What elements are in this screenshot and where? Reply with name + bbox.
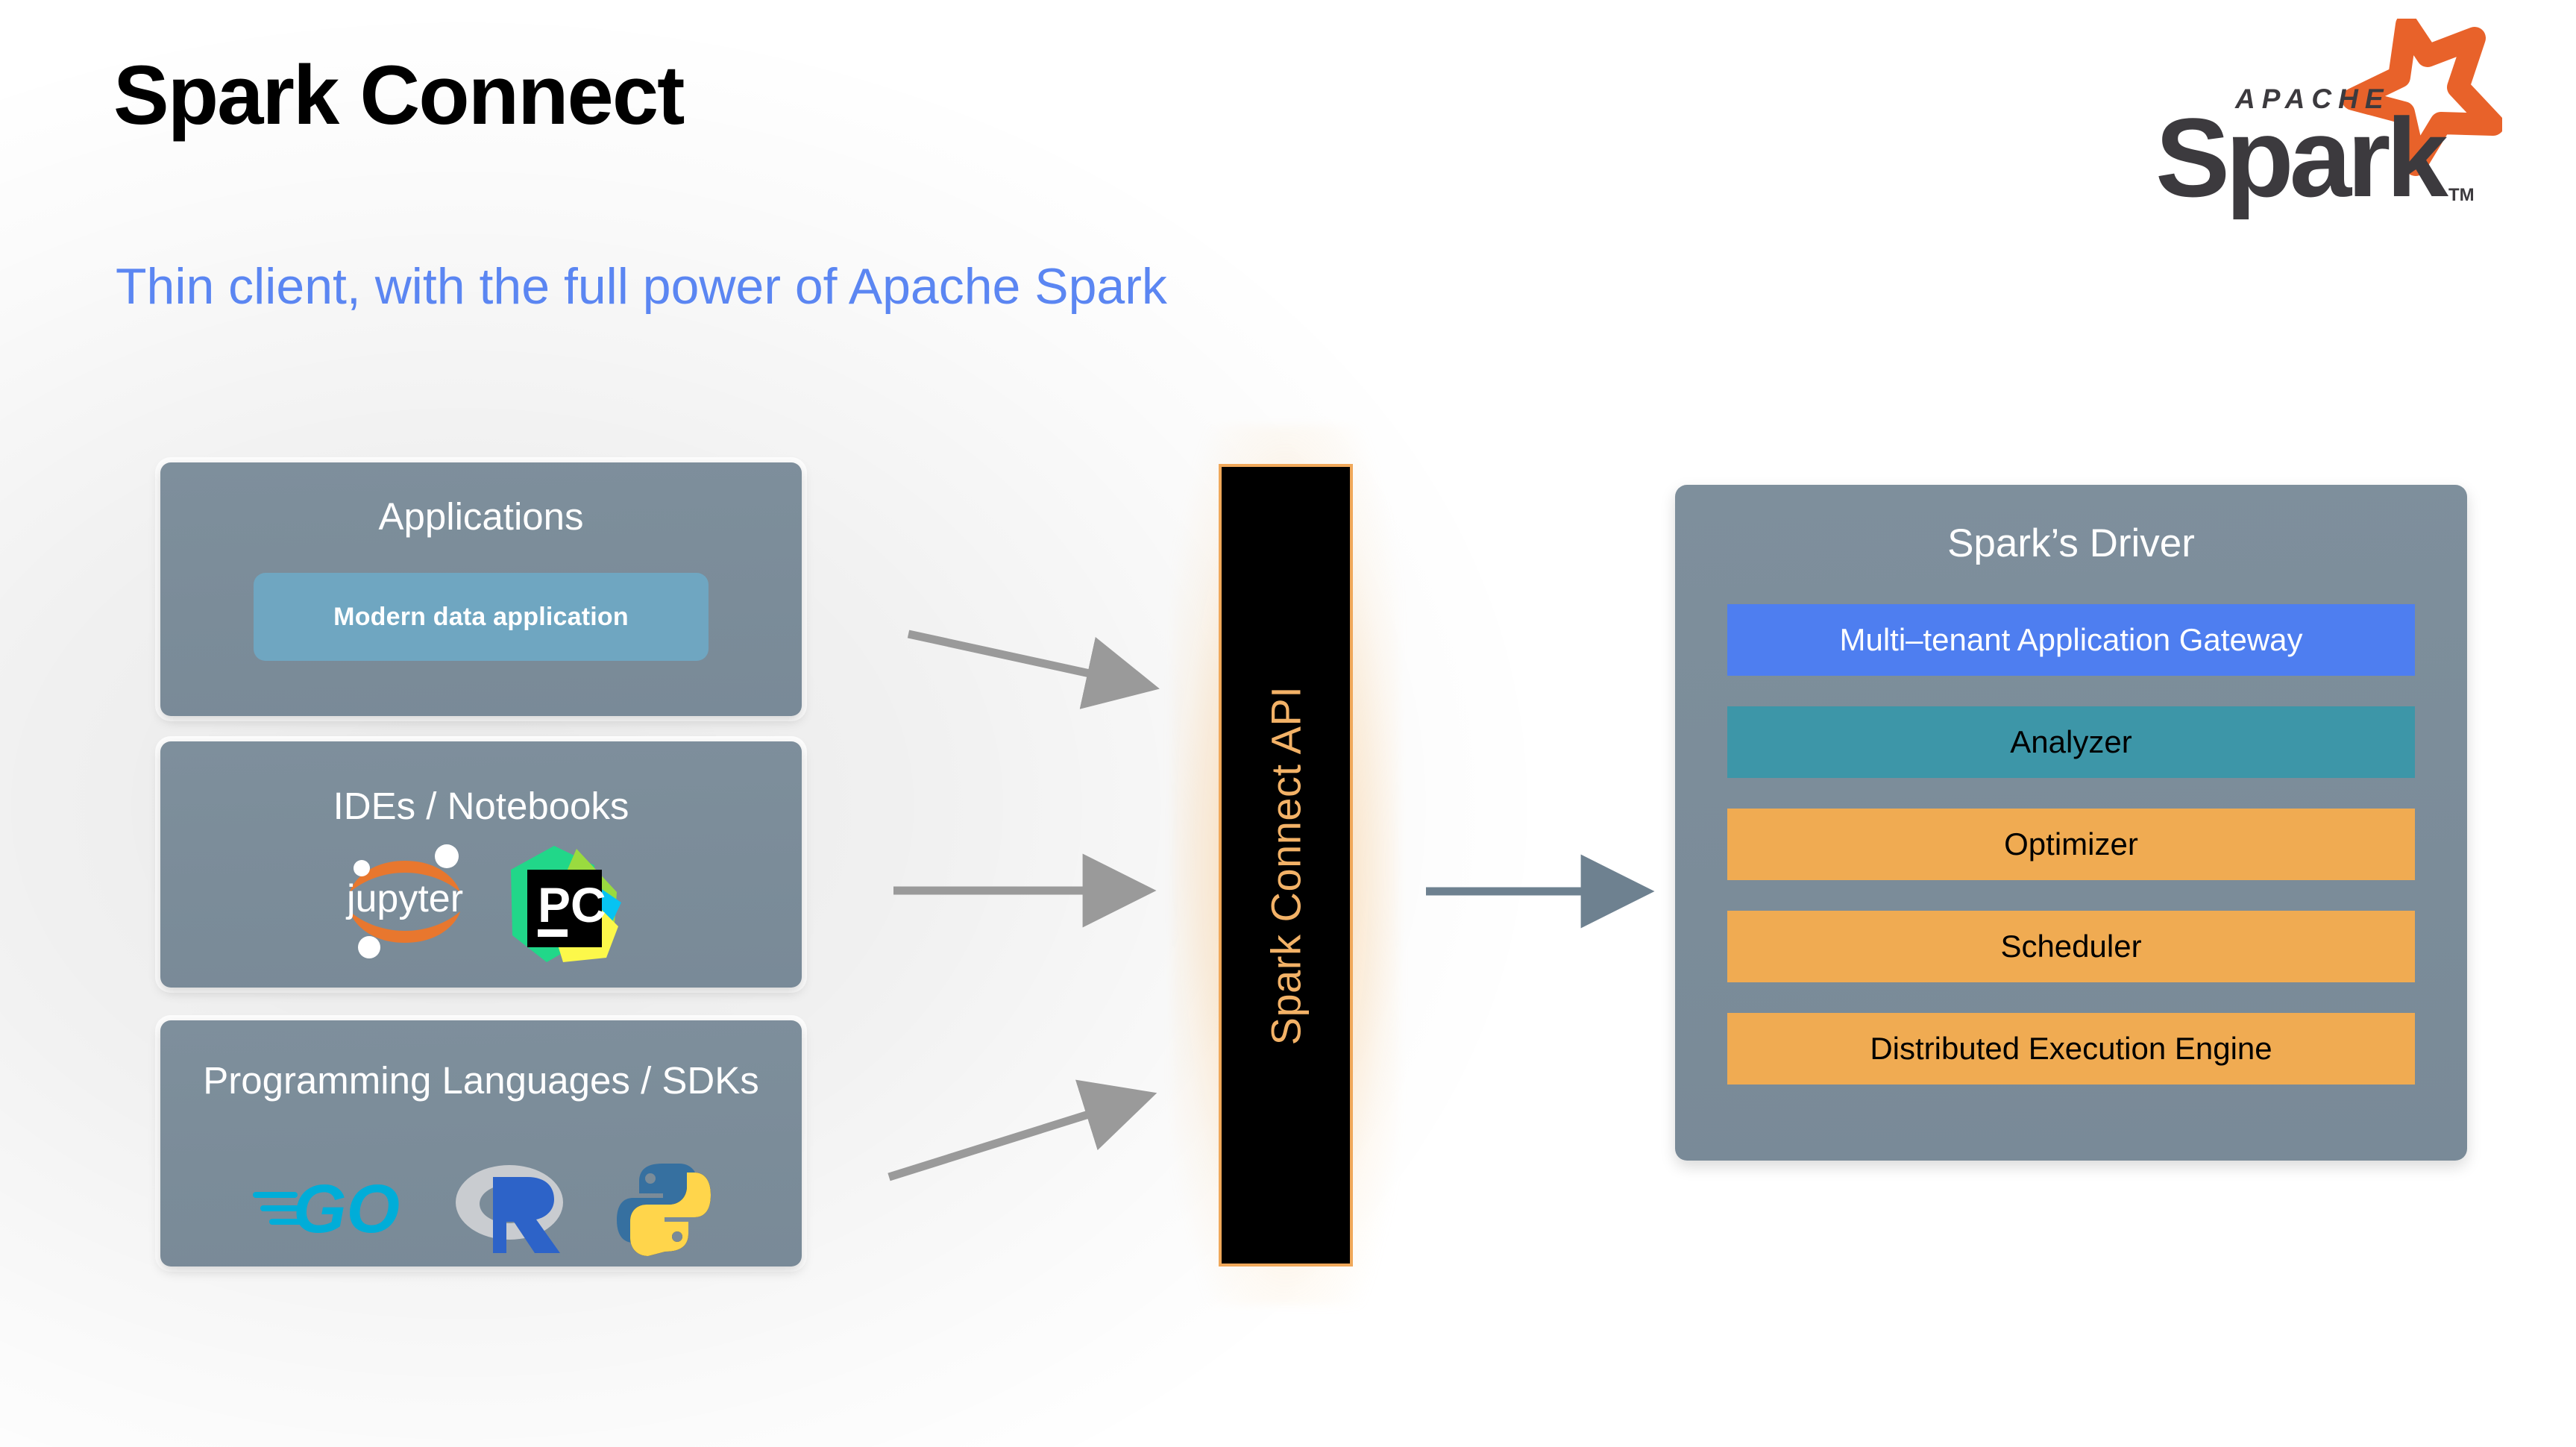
driver-row-scheduler[interactable]: Scheduler bbox=[1727, 911, 2415, 982]
driver-row-label: Optimizer bbox=[2004, 826, 2138, 862]
svg-text:TM: TM bbox=[2448, 185, 2475, 205]
svg-text:jupyter: jupyter bbox=[345, 877, 463, 920]
modern-data-application-label: Modern data application bbox=[333, 603, 629, 632]
spark-connect-api-bar[interactable]: Spark Connect API bbox=[1219, 464, 1353, 1266]
golang-logo: GO bbox=[250, 1167, 406, 1252]
api-bar-label: Spark Connect API bbox=[1262, 685, 1310, 1045]
driver-row-distributed-execution-engine[interactable]: Distributed Execution Engine bbox=[1727, 1013, 2415, 1085]
card-applications[interactable]: Applications Modern data application bbox=[160, 462, 802, 716]
driver-row-list: Multi–tenant Application Gateway Analyze… bbox=[1727, 604, 2415, 1085]
api-bar-body: Spark Connect API bbox=[1219, 464, 1353, 1266]
modern-data-application-pill[interactable]: Modern data application bbox=[254, 573, 709, 661]
page-subtitle: Thin client, with the full power of Apac… bbox=[116, 261, 1167, 312]
apache-spark-logo: APACHE Spark TM bbox=[2129, 19, 2502, 220]
driver-row-label: Analyzer bbox=[2010, 724, 2132, 760]
ides-logo-row: jupyter PC bbox=[160, 838, 802, 969]
driver-row-label: Scheduler bbox=[2000, 929, 2141, 964]
card-ides-notebooks[interactable]: IDEs / Notebooks jupyter bbox=[160, 741, 802, 988]
arrow-languages-to-api bbox=[889, 1109, 1105, 1177]
page-title: Spark Connect bbox=[113, 54, 683, 137]
python-logo bbox=[615, 1159, 712, 1260]
driver-row-multi-tenant-application-gateway[interactable]: Multi–tenant Application Gateway bbox=[1727, 604, 2415, 676]
spark-driver-title: Spark’s Driver bbox=[1675, 521, 2467, 566]
jupyter-logo: jupyter bbox=[338, 838, 472, 969]
languages-logo-row: GO bbox=[160, 1159, 802, 1260]
arrow-applications-to-api bbox=[908, 634, 1107, 677]
pycharm-logo: PC bbox=[505, 838, 624, 969]
slide-canvas: Spark Connect Thin client, with the full… bbox=[0, 0, 2576, 1447]
card-applications-title: Applications bbox=[160, 495, 802, 538]
card-ides-notebooks-title: IDEs / Notebooks bbox=[160, 785, 802, 827]
card-programming-languages-sdks[interactable]: Programming Languages / SDKs GO bbox=[160, 1020, 802, 1266]
svg-text:Spark: Spark bbox=[2155, 95, 2448, 220]
spark-driver-panel[interactable]: Spark’s Driver Multi–tenant Application … bbox=[1675, 485, 2467, 1161]
driver-row-label: Distributed Execution Engine bbox=[1870, 1031, 2272, 1067]
driver-row-label: Multi–tenant Application Gateway bbox=[1839, 622, 2302, 658]
card-programming-languages-sdks-title: Programming Languages / SDKs bbox=[160, 1059, 802, 1102]
driver-row-analyzer[interactable]: Analyzer bbox=[1727, 706, 2415, 778]
r-language-logo bbox=[451, 1159, 571, 1260]
svg-text:GO: GO bbox=[293, 1171, 400, 1247]
driver-row-optimizer[interactable]: Optimizer bbox=[1727, 809, 2415, 880]
svg-text:PC: PC bbox=[538, 877, 606, 932]
